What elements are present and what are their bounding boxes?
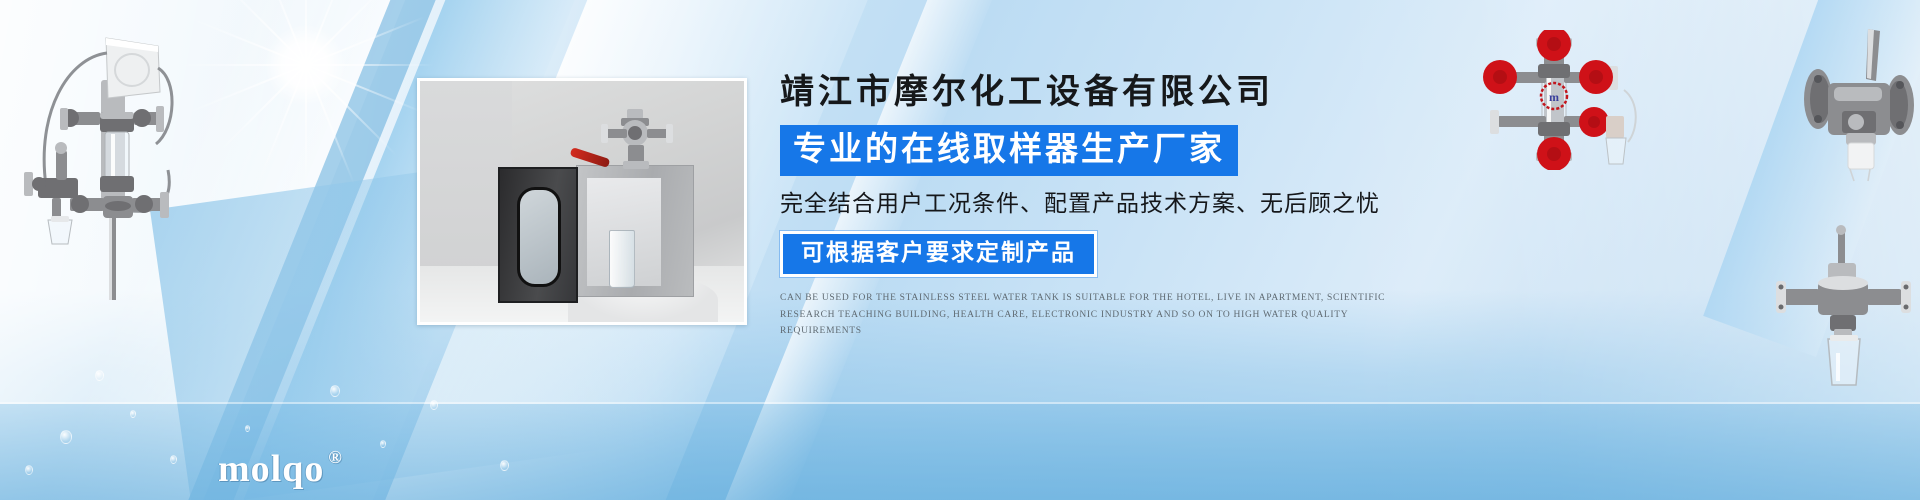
brand-logo-text: molqo [218,448,324,490]
water-droplet-icon [25,465,33,475]
water-droplet-icon [380,440,386,448]
subheadline: 完全结合用户工况条件、配置产品技术方案、无后顾之忧 [780,189,1400,218]
water-droplet-icon [500,460,509,471]
brand-logo: molqo® [218,448,343,488]
product-image-angle-valve [1790,25,1920,185]
water-droplet-icon [430,400,438,410]
product-image-inline-sampling-valve [1770,225,1920,400]
photo-valve-assembly [601,107,673,169]
custom-order-badge: 可根据客户要求定制产品 [780,231,1097,277]
water-droplet-icon [60,430,72,444]
svg-text:m: m [1549,90,1559,104]
english-description: CAN BE USED FOR THE STAINLESS STEEL WATE… [780,290,1390,340]
product-image-cross-valve-sampler: m [1478,30,1678,170]
water-droplet-icon [130,410,136,418]
registered-trademark-icon: ® [328,447,342,467]
product-photo [417,78,747,325]
water-droplet-icon [95,370,104,381]
company-name: 靖江市摩尔化工设备有限公司 [780,74,1400,111]
promo-banner: m [0,0,1920,500]
water-droplet-icon [330,385,340,397]
headline-badge: 专业的在线取样器生产厂家 [780,125,1238,175]
product-image-online-sampler [8,20,198,300]
copy-block: 靖江市摩尔化工设备有限公司 专业的在线取样器生产厂家 完全结合用户工况条件、配置… [780,74,1400,340]
water-droplet-icon [170,455,177,464]
water-droplet-icon [245,425,250,432]
sunburst-icon [175,0,435,195]
